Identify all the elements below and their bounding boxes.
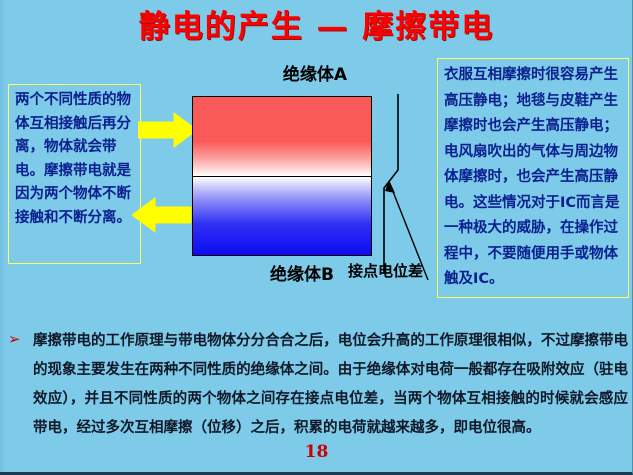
slide-canvas: 静电的产生 — 摩擦带电 两个不同性质的物体互相接触后再分离，物体就会带电。摩擦… xyxy=(0,0,633,475)
arrow-left-icon xyxy=(132,197,192,233)
contact-potential-line xyxy=(376,92,432,282)
left-edge-band xyxy=(0,0,5,475)
explanation-paragraph: 摩擦带电的工作原理与带电物体分分合合之后，电位会升高的工作原理很相似，不过摩擦带… xyxy=(33,327,628,443)
insulator-a-label: 绝缘体A xyxy=(235,60,395,85)
callout-right-examples: 衣服互相摩擦时很容易产生高压静电；地毯与皮鞋产生摩擦时也会产生高压静电；电风扇吹… xyxy=(437,58,629,298)
insulator-a-block xyxy=(193,97,371,177)
page-number: 18 xyxy=(0,442,633,462)
separate-arrow-left-icon xyxy=(132,197,192,233)
callout-left-definition: 两个不同性质的物体互相接触后再分离，物体就会带电。摩擦带电就是因为两个物体不断接… xyxy=(8,84,141,264)
arrow-right-icon xyxy=(138,112,198,148)
bullet-arrow-icon: ➢ xyxy=(8,330,21,348)
page-title: 静电的产生 — 摩擦带电 xyxy=(0,8,633,46)
explanation-bullet-row: ➢ 摩擦带电的工作原理与带电物体分分合合之后，电位会升高的工作原理很相似，不过摩… xyxy=(8,327,628,443)
insulator-stack xyxy=(192,96,372,256)
contact-arrow-right-icon xyxy=(138,112,198,148)
contact-potential-label: 接点电位差 xyxy=(348,260,423,281)
insulator-b-block xyxy=(193,177,371,255)
insulator-diagram: 绝缘体A 绝缘体B 接点电位差 xyxy=(190,60,440,300)
